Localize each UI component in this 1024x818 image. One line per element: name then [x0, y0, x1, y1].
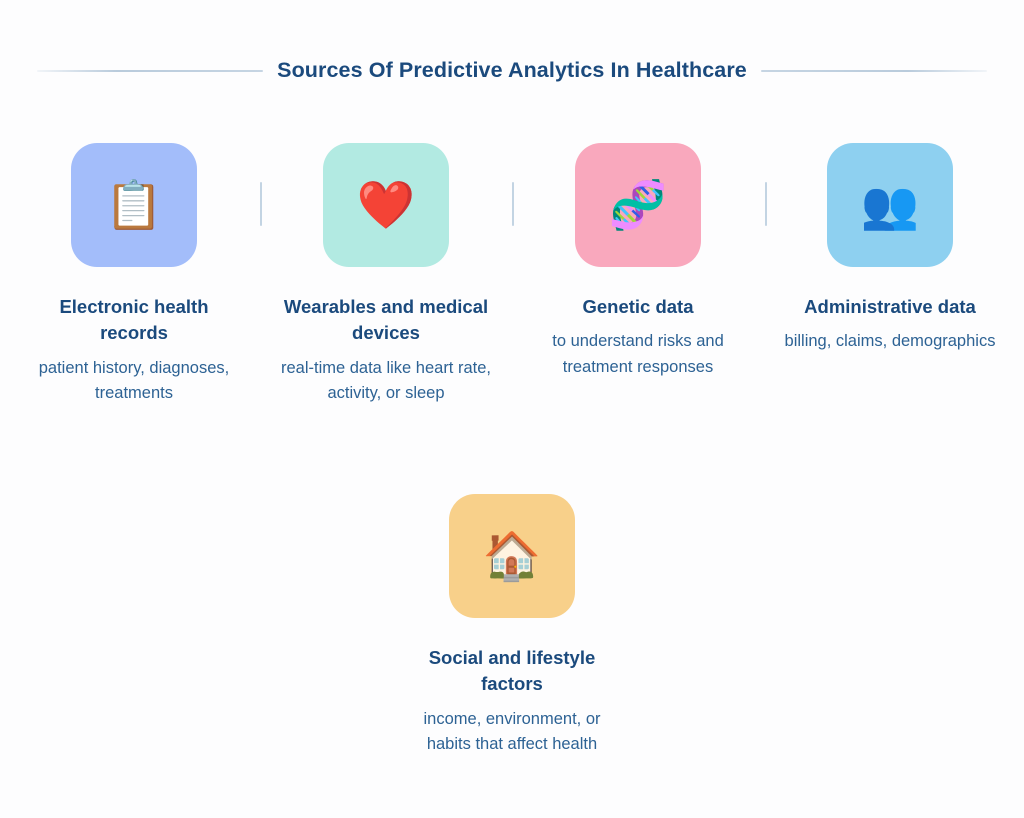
clipboard-icon: 📋 [105, 182, 164, 229]
sources-row-bottom: 🏠 Social and lifestyle factors income, e… [0, 494, 1024, 758]
page-title: Sources Of Predictive Analytics In Healt… [277, 58, 747, 83]
house-icon: 🏠 [483, 533, 542, 580]
source-title: Administrative data [804, 294, 976, 320]
infographic-page: Sources Of Predictive Analytics In Healt… [0, 0, 1024, 818]
source-description: patient history, diagnoses, treatments [24, 356, 244, 407]
source-title: Social and lifestyle factors [407, 645, 617, 698]
dna-icon: 🧬 [609, 182, 668, 229]
source-card-electronic-health-records[interactable]: 📋 Electronic health records patient hist… [8, 143, 260, 407]
source-description: income, environment, or habits that affe… [402, 707, 622, 758]
source-description: to understand risks and treatment respon… [528, 329, 748, 380]
source-card-administrative-data[interactable]: 👥 Administrative data billing, claims, d… [764, 143, 1016, 355]
source-tile-electronic-health-records: 📋 [71, 143, 197, 267]
source-tile-wearables-and-medical-devices: ❤️ [323, 143, 449, 267]
source-card-social-and-lifestyle-factors[interactable]: 🏠 Social and lifestyle factors income, e… [386, 494, 638, 758]
title-rule-left [37, 70, 263, 72]
source-description: real-time data like heart rate, activity… [276, 356, 496, 407]
source-title: Genetic data [582, 294, 693, 320]
people-icon: 👥 [861, 182, 920, 229]
source-title: Wearables and medical devices [281, 294, 491, 347]
heart-icon: ❤️ [357, 182, 416, 229]
source-tile-administrative-data: 👥 [827, 143, 953, 267]
sources-row-top: 📋 Electronic health records patient hist… [0, 143, 1024, 407]
source-card-wearables-and-medical-devices[interactable]: ❤️ Wearables and medical devices real-ti… [260, 143, 512, 407]
source-title: Electronic health records [29, 294, 239, 347]
header: Sources Of Predictive Analytics In Healt… [0, 58, 1024, 83]
title-rule-right [761, 70, 987, 72]
source-tile-genetic-data: 🧬 [575, 143, 701, 267]
source-description: billing, claims, demographics [785, 329, 996, 355]
source-card-genetic-data[interactable]: 🧬 Genetic data to understand risks and t… [512, 143, 764, 380]
source-tile-social-and-lifestyle-factors: 🏠 [449, 494, 575, 618]
